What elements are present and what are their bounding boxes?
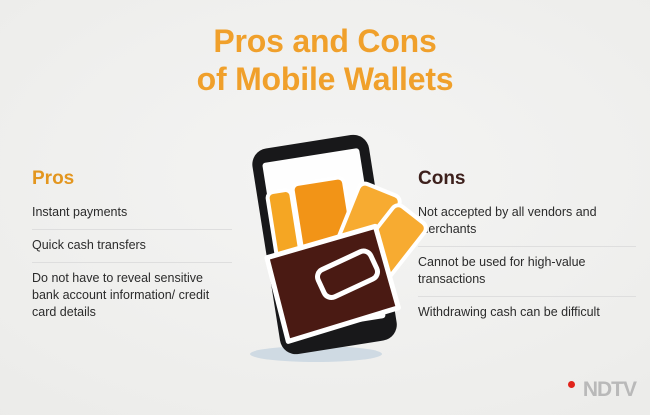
list-item: Quick cash transfers	[32, 229, 232, 262]
infographic-canvas: Pros and Cons of Mobile Wallets Pros Ins…	[0, 0, 650, 415]
cons-list: Not accepted by all vendors and merchant…	[418, 204, 636, 329]
list-item: Not accepted by all vendors and merchant…	[418, 204, 636, 246]
cons-column: Cons Not accepted by all vendors and mer…	[418, 168, 636, 329]
list-item: Instant payments	[32, 204, 232, 229]
list-item: Do not have to reveal sensitive bank acc…	[32, 262, 232, 329]
title-line-2: of Mobile Wallets	[0, 60, 650, 98]
pros-heading: Pros	[32, 168, 232, 190]
title-line-1: Pros and Cons	[0, 22, 650, 60]
mobile-wallet-illustration	[228, 122, 428, 377]
cons-heading: Cons	[418, 168, 636, 190]
pros-list: Instant payments Quick cash transfers Do…	[32, 204, 232, 329]
list-item: Cannot be used for high-value transactio…	[418, 246, 636, 296]
list-item: Withdrawing cash can be difficult	[418, 296, 636, 329]
ndtv-logo: NDTV	[540, 377, 636, 403]
page-title: Pros and Cons of Mobile Wallets	[0, 22, 650, 98]
pros-column: Pros Instant payments Quick cash transfe…	[32, 168, 232, 329]
ndtv-logo-text: NDTV	[540, 377, 636, 403]
ndtv-logo-dot-icon	[568, 381, 575, 388]
